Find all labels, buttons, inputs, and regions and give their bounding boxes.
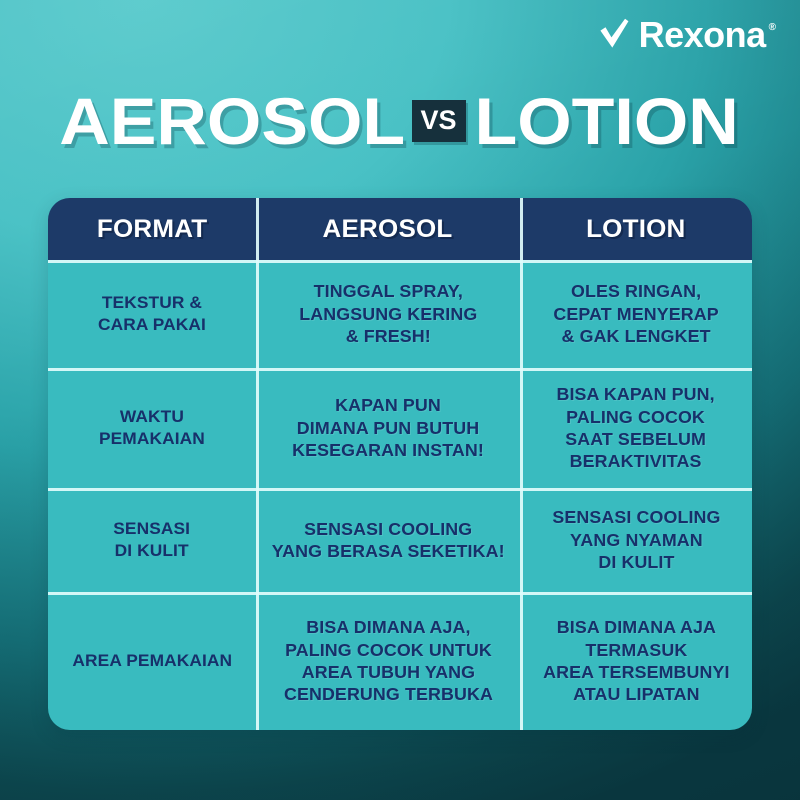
check-icon: [597, 17, 631, 51]
registered-mark: ®: [769, 22, 776, 33]
table-header-label: AEROSOL: [323, 215, 453, 244]
row-lotion-text: BISA DIMANA AJA TERMASUK AREA TERSEMBUNY…: [543, 616, 729, 706]
vs-badge: VS: [412, 100, 466, 142]
table-row: AREA PEMAKAIAN BISA DIMANA AJA, PALING C…: [48, 592, 752, 730]
table-row: TEKSTUR & CARA PAKAI TINGGAL SPRAY, LANG…: [48, 260, 752, 368]
row-lotion-text: BISA KAPAN PUN, PALING COCOK SAAT SEBELU…: [557, 383, 715, 473]
page-title: AEROSOL VS LOTION: [0, 88, 800, 154]
title-left-word: AEROSOL: [59, 88, 405, 154]
row-label-cell: TEKSTUR & CARA PAKAI: [48, 260, 256, 368]
row-lotion-cell: OLES RINGAN, CEPAT MENYERAP & GAK LENGKE…: [520, 260, 752, 368]
row-lotion-text: OLES RINGAN, CEPAT MENYERAP & GAK LENGKE…: [553, 280, 718, 347]
row-aerosol-cell: SENSASI COOLING YANG BERASA SEKETIKA!: [256, 488, 520, 592]
table-row: SENSASI DI KULIT SENSASI COOLING YANG BE…: [48, 488, 752, 592]
row-aerosol-text: BISA DIMANA AJA, PALING COCOK UNTUK AREA…: [283, 616, 492, 706]
table-header-aerosol: AEROSOL: [256, 198, 520, 260]
table-header-label: LOTION: [586, 215, 685, 244]
row-lotion-text: SENSASI COOLING YANG NYAMAN DI KULIT: [552, 506, 720, 573]
row-label: TEKSTUR & CARA PAKAI: [98, 292, 206, 336]
row-lotion-cell: BISA DIMANA AJA TERMASUK AREA TERSEMBUNY…: [520, 592, 752, 730]
row-label: SENSASI DI KULIT: [114, 518, 191, 562]
row-label: AREA PEMAKAIAN: [72, 650, 232, 672]
row-label-cell: WAKTU PEMAKAIAN: [48, 368, 256, 488]
row-label-cell: AREA PEMAKAIAN: [48, 592, 256, 730]
row-label: WAKTU PEMAKAIAN: [99, 406, 205, 450]
table-header-label: FORMAT: [97, 215, 208, 244]
row-aerosol-cell: KAPAN PUN DIMANA PUN BUTUH KESEGARAN INS…: [256, 368, 520, 488]
row-aerosol-text: KAPAN PUN DIMANA PUN BUTUH KESEGARAN INS…: [292, 394, 484, 461]
brand-logo: Rexona ®: [597, 16, 776, 52]
row-lotion-cell: SENSASI COOLING YANG NYAMAN DI KULIT: [520, 488, 752, 592]
brand-name: Rexona: [639, 17, 766, 53]
row-label-cell: SENSASI DI KULIT: [48, 488, 256, 592]
row-aerosol-cell: TINGGAL SPRAY, LANGSUNG KERING & FRESH!: [256, 260, 520, 368]
table-row: WAKTU PEMAKAIAN KAPAN PUN DIMANA PUN BUT…: [48, 368, 752, 488]
infographic-canvas: Rexona ® AEROSOL VS LOTION FORMAT AEROSO…: [0, 0, 800, 800]
title-right-word: LOTION: [474, 88, 738, 154]
comparison-table: FORMAT AEROSOL LOTION TEKSTUR & CARA PAK…: [48, 198, 752, 730]
row-aerosol-text: TINGGAL SPRAY, LANGSUNG KERING & FRESH!: [299, 280, 477, 347]
table-header-format: FORMAT: [48, 198, 256, 260]
table-header-row: FORMAT AEROSOL LOTION: [48, 198, 752, 260]
row-aerosol-cell: BISA DIMANA AJA, PALING COCOK UNTUK AREA…: [256, 592, 520, 730]
row-lotion-cell: BISA KAPAN PUN, PALING COCOK SAAT SEBELU…: [520, 368, 752, 488]
row-aerosol-text: SENSASI COOLING YANG BERASA SEKETIKA!: [272, 518, 505, 563]
table-header-lotion: LOTION: [520, 198, 752, 260]
